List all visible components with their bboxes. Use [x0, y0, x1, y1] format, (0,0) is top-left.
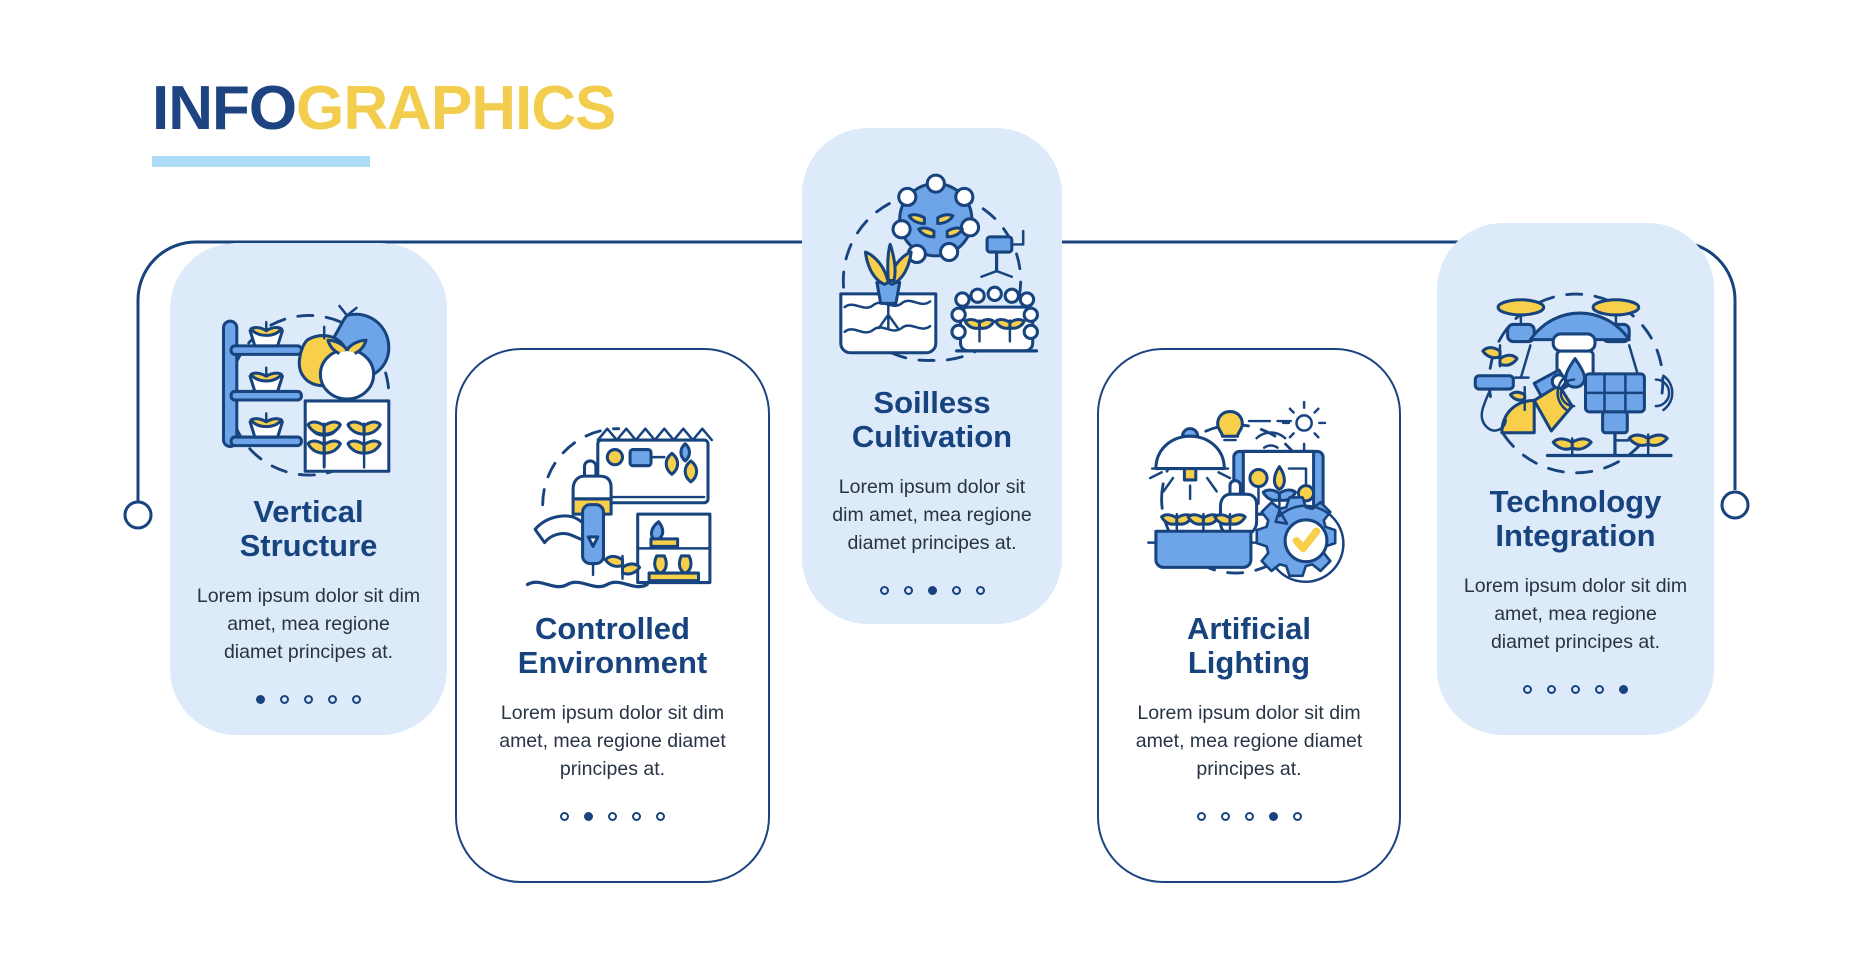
- progress-dot-2[interactable]: [584, 812, 593, 821]
- card-title-line-2: Integration: [1495, 518, 1655, 553]
- progress-dot-2[interactable]: [1221, 812, 1230, 821]
- vertical-shelf-plants-icon: [195, 277, 423, 485]
- card-title-line-2: Cultivation: [852, 419, 1012, 454]
- progress-dot-3[interactable]: [1245, 812, 1254, 821]
- card-title: Technology Integration: [1476, 485, 1676, 553]
- card-title-line-2: Lighting: [1188, 645, 1310, 680]
- progress-dot-1[interactable]: [256, 695, 265, 704]
- card-title-line-2: Structure: [240, 528, 378, 563]
- page-title: INFOGRAPHICS: [152, 78, 615, 140]
- progress-dot-5[interactable]: [656, 812, 665, 821]
- card-title: Controlled Environment: [504, 612, 721, 680]
- card-progress-dots[interactable]: [256, 695, 361, 704]
- hydroponic-water-plant-icon: [818, 168, 1046, 376]
- connector-endpoint-right: [1722, 492, 1748, 518]
- card-progress-dots[interactable]: [1523, 685, 1628, 694]
- card-title-line-2: Environment: [518, 645, 707, 680]
- infographic-card-vertical-structure[interactable]: Vertical Structure Lorem ipsum dolor sit…: [170, 243, 447, 735]
- progress-dot-1[interactable]: [560, 812, 569, 821]
- progress-dot-3[interactable]: [608, 812, 617, 821]
- page-title-block: INFOGRAPHICS: [152, 78, 615, 167]
- progress-dot-5[interactable]: [976, 586, 985, 595]
- progress-dot-4[interactable]: [952, 586, 961, 595]
- grow-lamp-automation-icon: [1135, 394, 1363, 602]
- infographic-card-controlled-environment[interactable]: Controlled Environment Lorem ipsum dolor…: [455, 348, 770, 883]
- card-title: Artificial Lighting: [1173, 612, 1325, 680]
- progress-dot-4[interactable]: [1595, 685, 1604, 694]
- progress-dot-2[interactable]: [1547, 685, 1556, 694]
- card-title-line-1: Vertical: [253, 494, 363, 529]
- page-title-part-graphics: GRAPHICS: [296, 74, 615, 143]
- card-title: Soilless Cultivation: [838, 386, 1026, 454]
- progress-dot-1[interactable]: [1523, 685, 1532, 694]
- card-progress-dots[interactable]: [880, 586, 985, 595]
- progress-dot-2[interactable]: [904, 586, 913, 595]
- progress-dot-4[interactable]: [1269, 812, 1278, 821]
- card-body-text: Lorem ipsum dolor sit dim amet, mea regi…: [1437, 573, 1714, 657]
- climate-control-panel-icon: [499, 394, 727, 602]
- infographic-card-soilless-cultivation[interactable]: Soilless Cultivation Lorem ipsum dolor s…: [802, 128, 1062, 624]
- progress-dot-3[interactable]: [1571, 685, 1580, 694]
- progress-dot-5[interactable]: [1293, 812, 1302, 821]
- card-progress-dots[interactable]: [1197, 812, 1302, 821]
- drone-robot-solar-icon: [1462, 267, 1690, 475]
- card-title-line-1: Soilless: [873, 385, 990, 420]
- title-underline-bar: [152, 156, 370, 167]
- progress-dot-1[interactable]: [1197, 812, 1206, 821]
- card-title: Vertical Structure: [226, 495, 392, 563]
- card-title-line-1: Artificial: [1187, 611, 1311, 646]
- progress-dot-3[interactable]: [928, 586, 937, 595]
- connector-endpoint-left: [125, 502, 151, 528]
- progress-dot-1[interactable]: [880, 586, 889, 595]
- progress-dot-5[interactable]: [1619, 685, 1628, 694]
- infographic-card-artificial-lighting[interactable]: Artificial Lighting Lorem ipsum dolor si…: [1097, 348, 1401, 883]
- progress-dot-3[interactable]: [304, 695, 313, 704]
- card-body-text: Lorem ipsum dolor sit dim amet, mea regi…: [1099, 700, 1399, 784]
- progress-dot-4[interactable]: [328, 695, 337, 704]
- progress-dot-2[interactable]: [280, 695, 289, 704]
- card-body-text: Lorem ipsum dolor sit dim amet, mea regi…: [802, 474, 1062, 558]
- card-title-line-1: Technology: [1490, 484, 1662, 519]
- card-body-text: Lorem ipsum dolor sit dim amet, mea regi…: [170, 583, 447, 667]
- card-body-text: Lorem ipsum dolor sit dim amet, mea regi…: [457, 700, 768, 784]
- page-title-part-info: INFO: [152, 74, 296, 143]
- progress-dot-4[interactable]: [632, 812, 641, 821]
- card-progress-dots[interactable]: [560, 812, 665, 821]
- infographic-card-technology-integration[interactable]: Technology Integration Lorem ipsum dolor…: [1437, 223, 1714, 735]
- progress-dot-5[interactable]: [352, 695, 361, 704]
- card-title-line-1: Controlled: [535, 611, 690, 646]
